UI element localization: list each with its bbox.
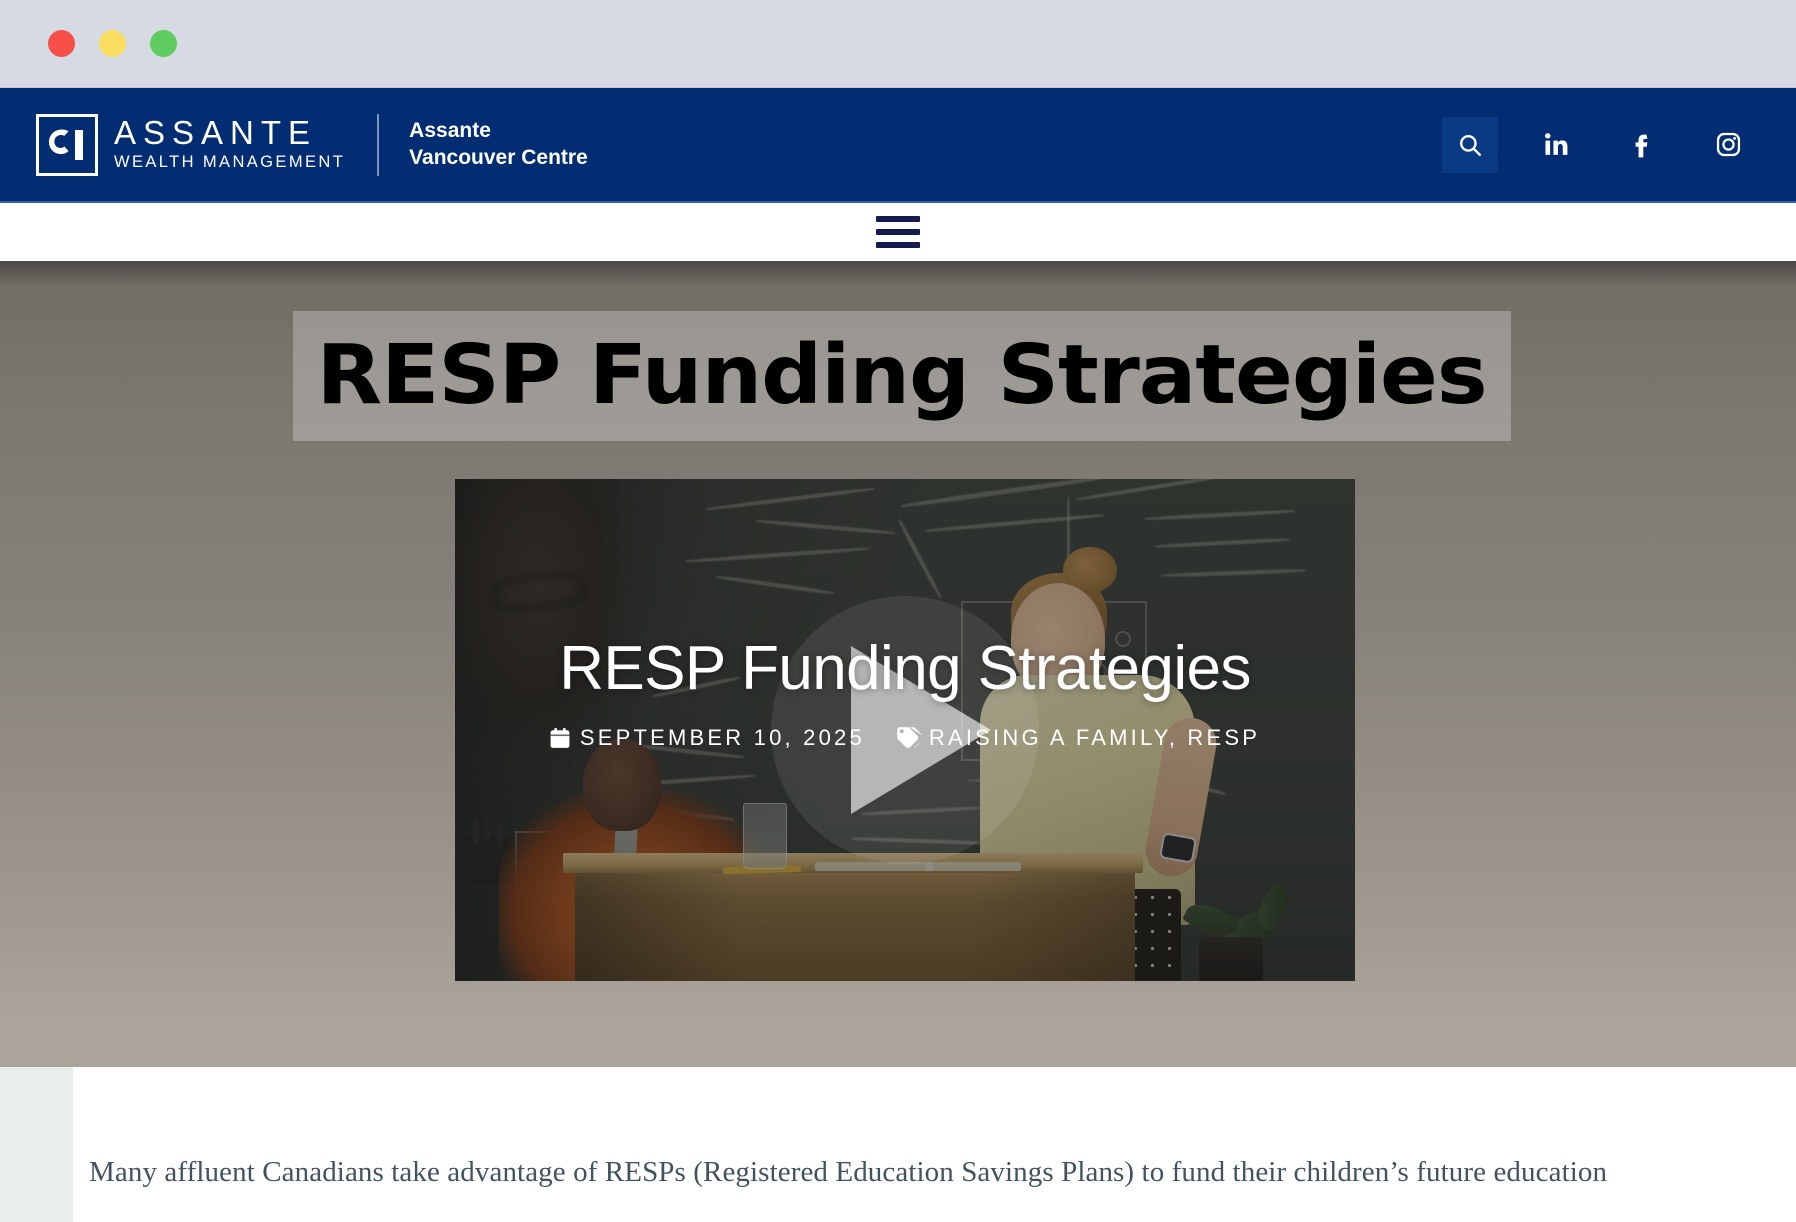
tag-icon xyxy=(895,727,929,749)
close-window-button[interactable] xyxy=(48,30,75,57)
video-date: SEPTEMBER 10, 2025 xyxy=(550,725,865,751)
facebook-icon[interactable] xyxy=(1614,117,1670,173)
brand-name: ASSANTE xyxy=(114,116,345,151)
hamburger-bar-3 xyxy=(876,242,920,248)
video-player-card[interactable]: RESP Funding Strategies SEPTEMBER 10, 20… xyxy=(455,479,1355,981)
video-meta: SEPTEMBER 10, 2025 RAISING A FAMILY, RES… xyxy=(455,725,1355,751)
menu-bar xyxy=(0,203,1796,261)
article-content: Many affluent Canadians take advantage o… xyxy=(73,1067,1796,1222)
page-title-box: RESP Funding Strategies xyxy=(293,311,1511,441)
article-side-rail xyxy=(0,1067,73,1222)
search-icon[interactable] xyxy=(1442,117,1498,173)
office-line-2: Vancouver Centre xyxy=(409,145,588,172)
video-overlay-text: RESP Funding Strategies SEPTEMBER 10, 20… xyxy=(455,635,1355,825)
brand-tagline: WEALTH MANAGEMENT xyxy=(114,153,345,173)
office-line-1: Assante xyxy=(409,118,588,145)
header-icon-nav xyxy=(1442,117,1756,173)
hamburger-bar-1 xyxy=(876,216,920,222)
page-title: RESP Funding Strategies xyxy=(317,335,1487,417)
minimize-window-button[interactable] xyxy=(99,30,126,57)
hamburger-menu-icon[interactable] xyxy=(876,216,920,248)
maximize-window-button[interactable] xyxy=(150,30,177,57)
video-tags-text: RAISING A FAMILY, RESP xyxy=(929,725,1260,751)
instagram-icon[interactable] xyxy=(1700,117,1756,173)
site-header: ASSANTE WEALTH MANAGEMENT Assante Vancou… xyxy=(0,88,1796,203)
article-paragraph: Many affluent Canadians take advantage o… xyxy=(89,1151,1736,1195)
article-section: Many affluent Canadians take advantage o… xyxy=(0,1067,1796,1222)
video-date-text: SEPTEMBER 10, 2025 xyxy=(580,725,865,751)
calendar-icon xyxy=(550,728,570,749)
video-tags: RAISING A FAMILY, RESP xyxy=(895,725,1260,751)
traffic-lights xyxy=(48,30,177,57)
browser-window: ASSANTE WEALTH MANAGEMENT Assante Vancou… xyxy=(0,0,1796,1222)
hamburger-bar-2 xyxy=(876,229,920,235)
brand-logo[interactable]: ASSANTE WEALTH MANAGEMENT Assante Vancou… xyxy=(36,114,588,176)
video-title: RESP Funding Strategies xyxy=(455,635,1355,703)
brand-wordmark: ASSANTE WEALTH MANAGEMENT xyxy=(114,116,345,173)
ci-logo-icon xyxy=(36,114,98,176)
browser-titlebar xyxy=(0,0,1796,88)
brand-divider xyxy=(377,114,379,176)
hero-section: RESP Funding Strategies xyxy=(0,261,1796,1067)
office-name: Assante Vancouver Centre xyxy=(409,118,588,172)
linkedin-icon[interactable] xyxy=(1528,117,1584,173)
